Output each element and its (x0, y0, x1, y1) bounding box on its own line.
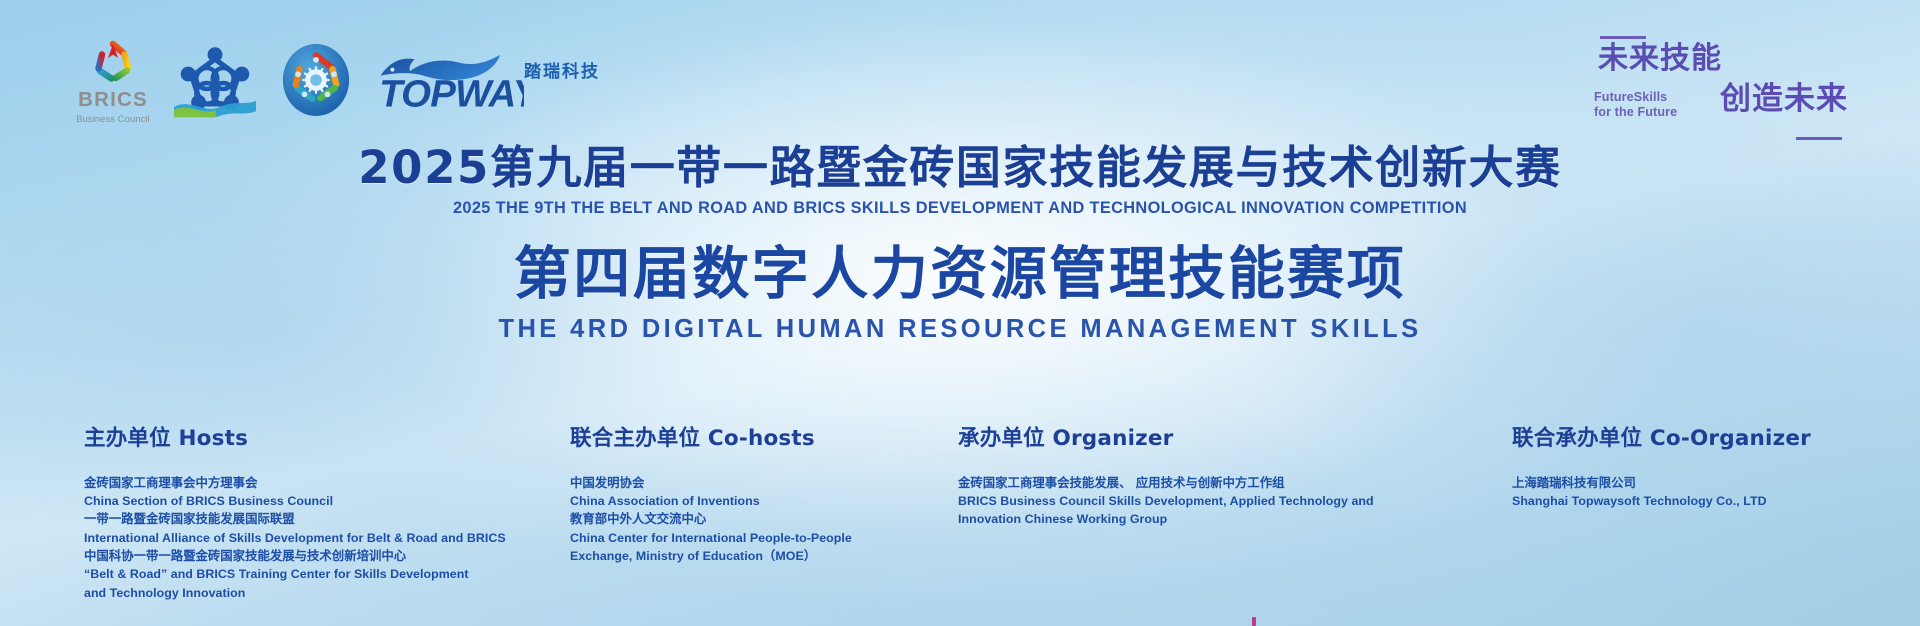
organizer-line: “Belt & Road” and BRICS Training Center … (84, 565, 514, 583)
organizer-line: 教育部中外人文交流中心 (570, 510, 900, 528)
organizer-list: 上海踏瑞科技有限公司 Shanghai Topwaysoft Technolog… (1512, 474, 1912, 511)
organizer-list: 金砖国家工商理事会中方理事会 China Section of BRICS Bu… (84, 474, 514, 603)
organizer-line: BRICS Business Council Skills Developmen… (958, 492, 1398, 510)
slogan-en-line1: FutureSkills (1594, 90, 1677, 105)
organizer-line: 金砖国家工商理事会技能发展、 应用技术与创新中方工作组 (958, 474, 1398, 492)
organizer-line: Innovation Chinese Working Group (958, 510, 1398, 528)
organizer-list: 金砖国家工商理事会技能发展、 应用技术与创新中方工作组 BRICS Busine… (958, 474, 1398, 529)
organizer-line: 上海踏瑞科技有限公司 (1512, 474, 1912, 492)
organizer-column-coorganizer: 联合承办单位 Co-Organizer 上海踏瑞科技有限公司 Shanghai … (1512, 428, 1912, 510)
slogan-cn-line1: 未来技能 (1598, 44, 1722, 74)
sponsor-logo-strip: BRICS Business Council (76, 38, 604, 123)
organizer-line: 一带一路暨金砖国家技能发展国际联盟 (84, 510, 514, 528)
organizer-list: 中国发明协会 China Association of Inventions 教… (570, 474, 900, 566)
main-title-chinese: 2025第九届一带一路暨金砖国家技能发展与技术创新大赛 (0, 144, 1920, 193)
logo-topway: TOPWAY 踏瑞科技 (376, 49, 604, 111)
event-title-english: THE 4RD DIGITAL HUMAN RESOURCE MANAGEMEN… (0, 317, 1920, 343)
organizer-line: 金砖国家工商理事会中方理事会 (84, 474, 514, 492)
logo-skills-alliance (174, 41, 256, 119)
brics-subtitle: Business Council (76, 114, 150, 123)
logo-competition-emblem (280, 42, 352, 118)
organizer-line: and Technology Innovation (84, 584, 514, 602)
main-title-english: 2025 THE 9TH THE BELT AND ROAD AND BRICS… (14, 200, 1905, 217)
organizer-line: China Association of Inventions (570, 492, 900, 510)
organizer-line: Exchange, Ministry of Education（MOE） (570, 547, 900, 565)
slogan-rule-bottom (1796, 137, 1842, 140)
organizer-column-organizer: 承办单位 Organizer 金砖国家工商理事会技能发展、 应用技术与创新中方工… (958, 428, 1398, 529)
organizer-column-cohosts: 联合主办单位 Co-hosts 中国发明协会 China Association… (570, 428, 900, 565)
organizer-line: China Center for International People-to… (570, 529, 900, 547)
logo-brics-business-council: BRICS Business Council (76, 38, 150, 123)
organizer-heading: 联合主办单位 Co-hosts (570, 428, 900, 450)
organizer-line: International Alliance of Skills Develop… (84, 529, 514, 547)
brics-star-icon (88, 38, 138, 86)
organizer-column-hosts: 主办单位 Hosts 金砖国家工商理事会中方理事会 China Section … (84, 428, 514, 602)
organizer-line: 中国科协一带一路暨金砖国家技能发展与技术创新培训中心 (84, 547, 514, 565)
slogan-rule-top (1600, 36, 1646, 39)
organizer-line: 中国发明协会 (570, 474, 900, 492)
event-title-chinese: 第四届数字人力资源管理技能赛项 (0, 244, 1920, 304)
alliance-flower-icon (174, 41, 256, 119)
brics-wordmark: BRICS (78, 90, 148, 111)
organizer-heading: 联合承办单位 Co-Organizer (1512, 428, 1912, 450)
svg-text:TOPWAY: TOPWAY (379, 73, 524, 111)
bottom-edge-marker (1252, 617, 1256, 626)
organizer-line: China Section of BRICS Business Council (84, 492, 514, 510)
organizer-line: Shanghai Topwaysoft Technology Co., LTD (1512, 492, 1912, 510)
organizer-heading: 承办单位 Organizer (958, 428, 1398, 450)
title-block: 2025第九届一带一路暨金砖国家技能发展与技术创新大赛 2025 THE 9TH… (0, 144, 1920, 342)
slogan-en: FutureSkills for the Future (1594, 90, 1677, 120)
slogan-en-line2: for the Future (1594, 105, 1677, 120)
circular-gear-star-emblem-icon (280, 42, 352, 118)
slogan-cn-line2: 创造未来 (1720, 84, 1848, 115)
future-skills-slogan: 未来技能 FutureSkills for the Future 创造未来 (1558, 32, 1858, 136)
organizer-heading: 主办单位 Hosts (84, 428, 514, 450)
organizers-section: 主办单位 Hosts 金砖国家工商理事会中方理事会 China Section … (0, 428, 1920, 618)
topway-chinese-name: 踏瑞科技 (524, 64, 600, 81)
topway-dragon-icon: TOPWAY (376, 49, 524, 111)
